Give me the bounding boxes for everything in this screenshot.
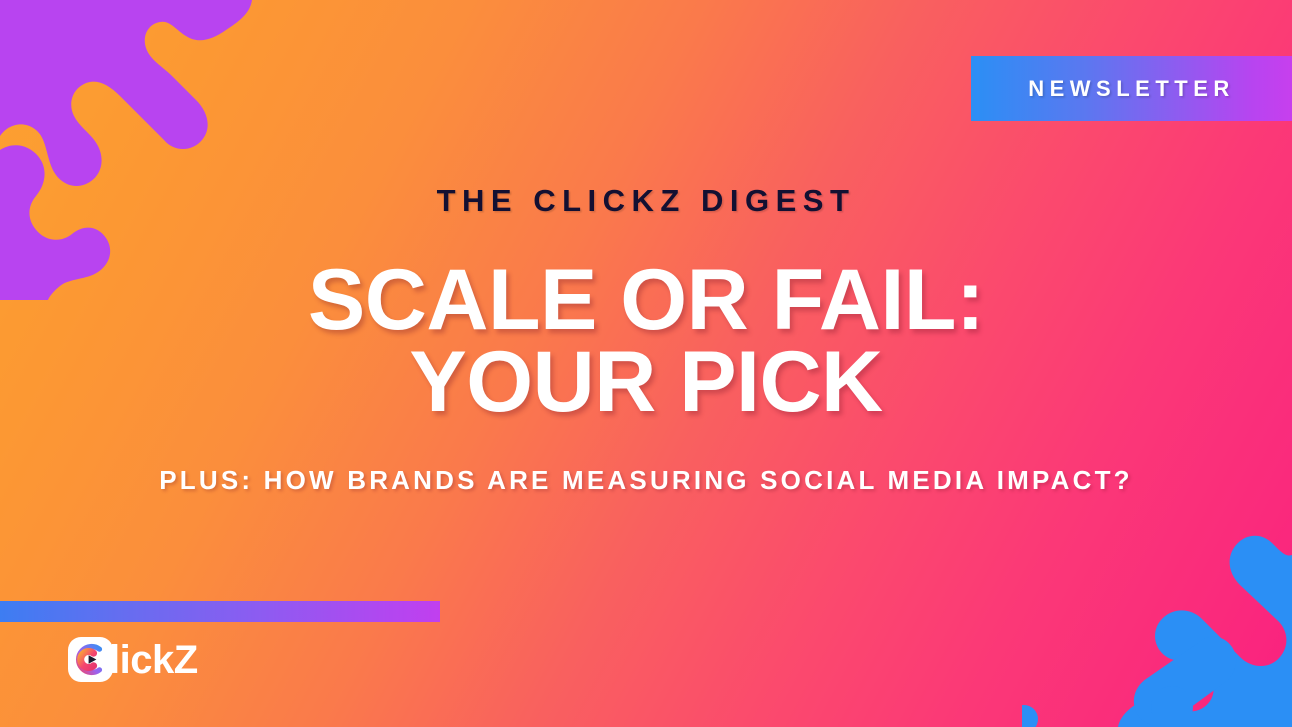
newsletter-banner: NEWSLETTER THE CLICKZ DIGEST SCALE OR FA…	[0, 0, 1292, 727]
eyebrow-title: THE CLICKZ DIGEST	[0, 185, 1292, 216]
clickz-play-c-mark-icon	[68, 637, 113, 682]
newsletter-badge: NEWSLETTER	[971, 56, 1292, 121]
main-headline: SCALE OR FAIL: YOUR PICK	[0, 260, 1292, 423]
headline-block: THE CLICKZ DIGEST SCALE OR FAIL: YOUR PI…	[0, 185, 1292, 496]
headline-line-1: SCALE OR FAIL:	[0, 260, 1292, 342]
headline-line-2: YOUR PICK	[0, 342, 1292, 424]
sub-headline: PLUS: HOW BRANDS ARE MEASURING SOCIAL ME…	[0, 465, 1292, 496]
accent-bar-decoration	[0, 601, 440, 622]
clickz-wordmark: lickZ	[109, 640, 198, 680]
newsletter-badge-label: NEWSLETTER	[1028, 76, 1235, 102]
clickz-logo: lickZ	[68, 637, 198, 682]
